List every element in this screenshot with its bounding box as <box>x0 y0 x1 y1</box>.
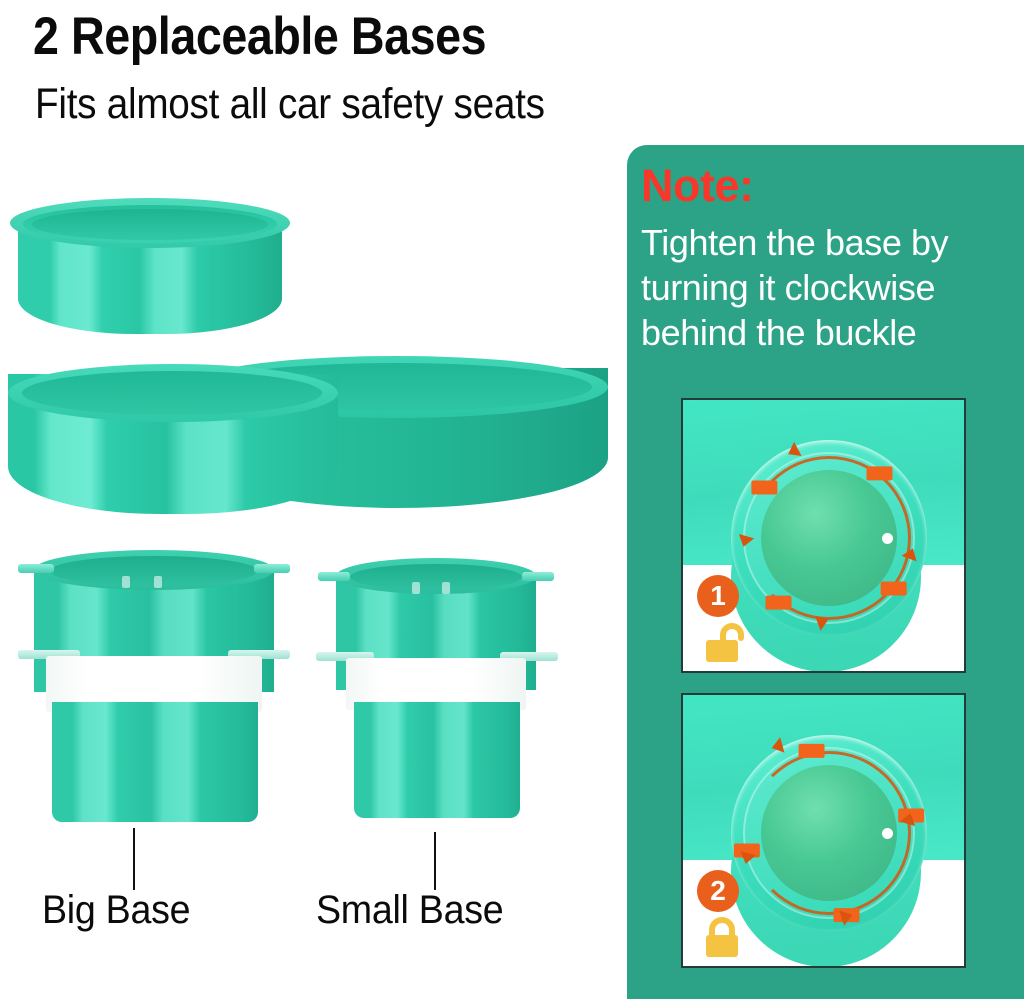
cup-upper-flange-left <box>18 564 54 573</box>
leader-line-big-base <box>133 828 135 890</box>
lock-tab-bottom-right <box>866 466 892 480</box>
small-base-cup-assembly <box>316 546 564 824</box>
base-left-lobe-opening <box>22 371 322 415</box>
page-subtitle: Fits almost all car safety seats <box>35 80 545 129</box>
alignment-dot <box>882 828 893 839</box>
cup-upper-opening <box>350 564 522 590</box>
step-1-illustration: 1 <box>681 398 966 673</box>
alignment-dot <box>882 533 893 544</box>
rotating-base-dial <box>731 440 927 636</box>
cup-upper-flange-right <box>254 564 290 573</box>
leader-line-small-base <box>434 832 436 890</box>
cup-lower-body <box>52 702 258 822</box>
cup-notch-a <box>412 582 420 594</box>
label-small-base: Small Base <box>316 888 503 933</box>
cup-notch-b <box>154 576 162 588</box>
unlock-icon <box>703 622 747 664</box>
step-number-badge-1: 1 <box>697 575 739 617</box>
lock-icon <box>703 917 747 959</box>
page-title: 2 Replaceable Bases <box>33 6 486 67</box>
product-infographic: 2 Replaceable Bases Fits almost all car … <box>0 0 1024 999</box>
cup-upper-flange-right <box>522 572 554 581</box>
note-panel: Note: Tighten the base by turning it clo… <box>627 145 1024 999</box>
lock-tab-top-left <box>765 595 791 609</box>
small-replacement-ring <box>10 198 290 343</box>
big-base-cup-assembly <box>18 536 290 824</box>
lock-tab-bottom-left <box>880 581 906 595</box>
note-body-text: Tighten the base by turning it clockwise… <box>641 220 1021 355</box>
cup-notch-a <box>122 576 130 588</box>
note-title: Note: <box>641 160 753 212</box>
step-2-illustration: 2 <box>681 693 966 968</box>
lock-tab-top <box>798 743 824 757</box>
rotating-base-dial <box>731 735 927 931</box>
lock-tab-top-right <box>751 480 777 494</box>
cup-notch-b <box>442 582 450 594</box>
label-big-base: Big Base <box>42 888 190 933</box>
big-replacement-base <box>8 356 608 531</box>
step-number-badge-2: 2 <box>697 870 739 912</box>
cup-lower-body <box>354 702 520 818</box>
ring-opening <box>32 209 268 240</box>
cup-upper-flange-left <box>318 572 350 581</box>
